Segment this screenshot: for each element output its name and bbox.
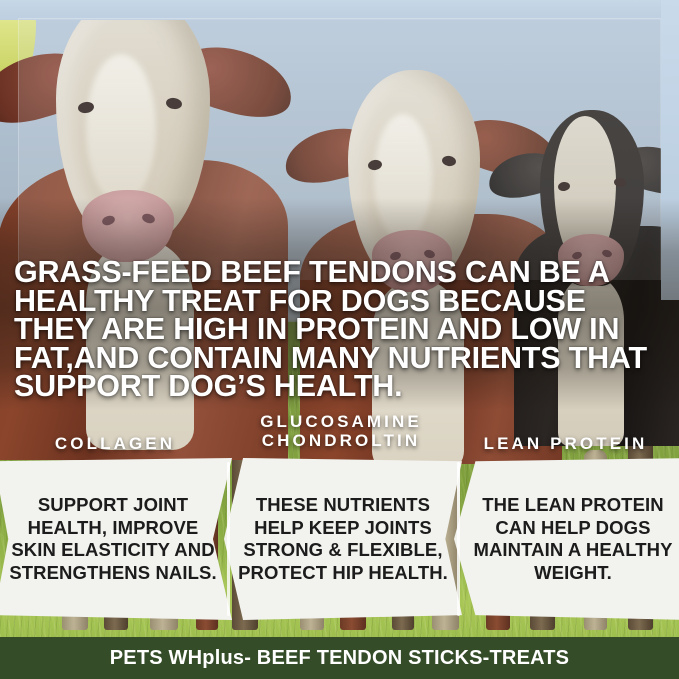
benefit-text-lean-protein: THE LEAN PROTEIN CAN HELP DOGS MAINTAIN … — [454, 494, 679, 584]
banner-divider-2 — [457, 462, 460, 616]
photo-top-strip — [0, 0, 679, 20]
benefit-banner-lean-protein: THE LEAN PROTEIN CAN HELP DOGS MAINTAIN … — [454, 458, 679, 620]
poster: GRASS-FEED BEEF TENDONS CAN BE A HEALTHY… — [0, 0, 679, 679]
column-headings: COLLAGEN GLUCOSAMINE CHONDROLTIN LEAN PR… — [0, 404, 679, 460]
brand-footer-bar: PETS WHplus- BEEF TENDON STICKS-TREATS — [0, 637, 679, 679]
headline: GRASS-FEED BEEF TENDONS CAN BE A HEALTHY… — [14, 258, 674, 401]
benefit-text-glucosamine: THESE NUTRIENTS HELP KEEP JOINTS STRONG … — [224, 494, 462, 584]
column-heading-collagen: COLLAGEN — [6, 434, 224, 453]
banner-divider-1 — [227, 462, 230, 616]
benefit-banner-collagen: SUPPORT JOINT HEALTH, IMPROVE SKIN ELAST… — [0, 458, 232, 620]
column-heading-lean-protein: LEAN PROTEIN — [452, 434, 679, 453]
benefit-banner-glucosamine: THESE NUTRIENTS HELP KEEP JOINTS STRONG … — [224, 458, 462, 620]
brand-footer-text: PETS WHplus- BEEF TENDON STICKS-TREATS — [110, 647, 569, 670]
benefit-text-collagen: SUPPORT JOINT HEALTH, IMPROVE SKIN ELAST… — [0, 494, 232, 584]
column-heading-glucosamine-chondroltin: GLUCOSAMINE CHONDROLTIN — [228, 412, 454, 450]
benefit-banners: SUPPORT JOINT HEALTH, IMPROVE SKIN ELAST… — [0, 458, 679, 620]
